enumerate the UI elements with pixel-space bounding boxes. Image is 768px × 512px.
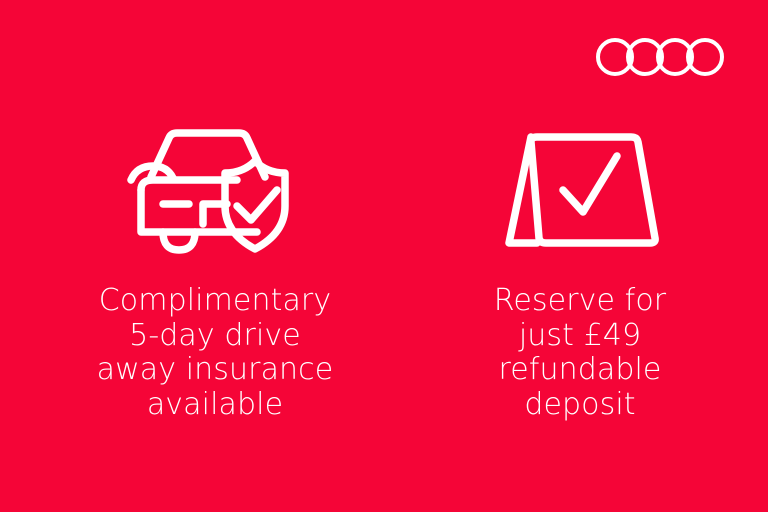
feature-deposit: Reserve for just £49 refundable deposit	[415, 128, 745, 422]
feature-insurance-text: Complimentary 5-day drive away insurance…	[97, 284, 334, 422]
feature-insurance: Complimentary 5-day drive away insurance…	[50, 128, 380, 422]
sign-check-icon	[563, 156, 617, 212]
car-shield-icon	[127, 128, 303, 252]
promo-banner: Complimentary 5-day drive away insurance…	[0, 0, 768, 512]
a-frame-sign-check-icon	[503, 128, 657, 252]
feature-deposit-text: Reserve for just £49 refundable deposit	[494, 284, 666, 422]
shield-check-icon	[237, 190, 277, 220]
audi-four-rings-logo	[596, 36, 724, 78]
